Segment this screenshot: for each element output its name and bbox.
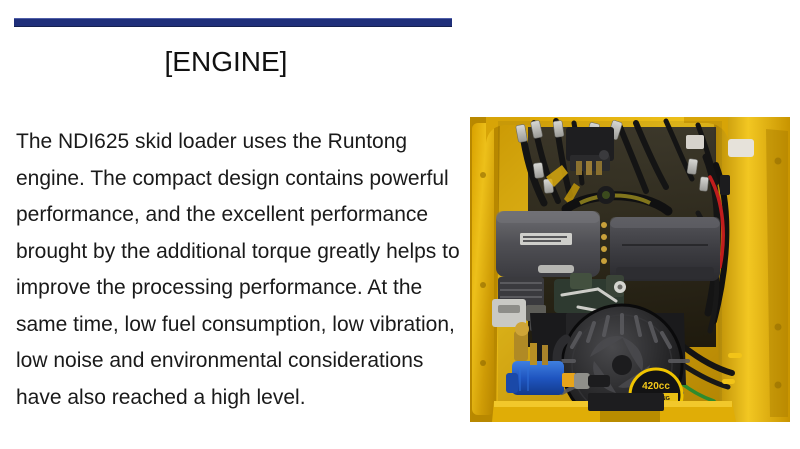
muffler-cover [610,217,720,281]
page-title: [ENGINE] [0,46,452,78]
engine-photo-illustration: 420cc RUNTONG 10 [470,117,790,422]
accent-rule [14,18,452,27]
description-paragraph: The NDI625 skid loader uses the Runtong … [16,124,462,416]
engine-photo: 420cc RUNTONG 10 [470,117,790,422]
slide-canvas: [ENGINE] The NDI625 skid loader uses the… [0,0,800,449]
svg-text:420cc: 420cc [642,381,670,392]
